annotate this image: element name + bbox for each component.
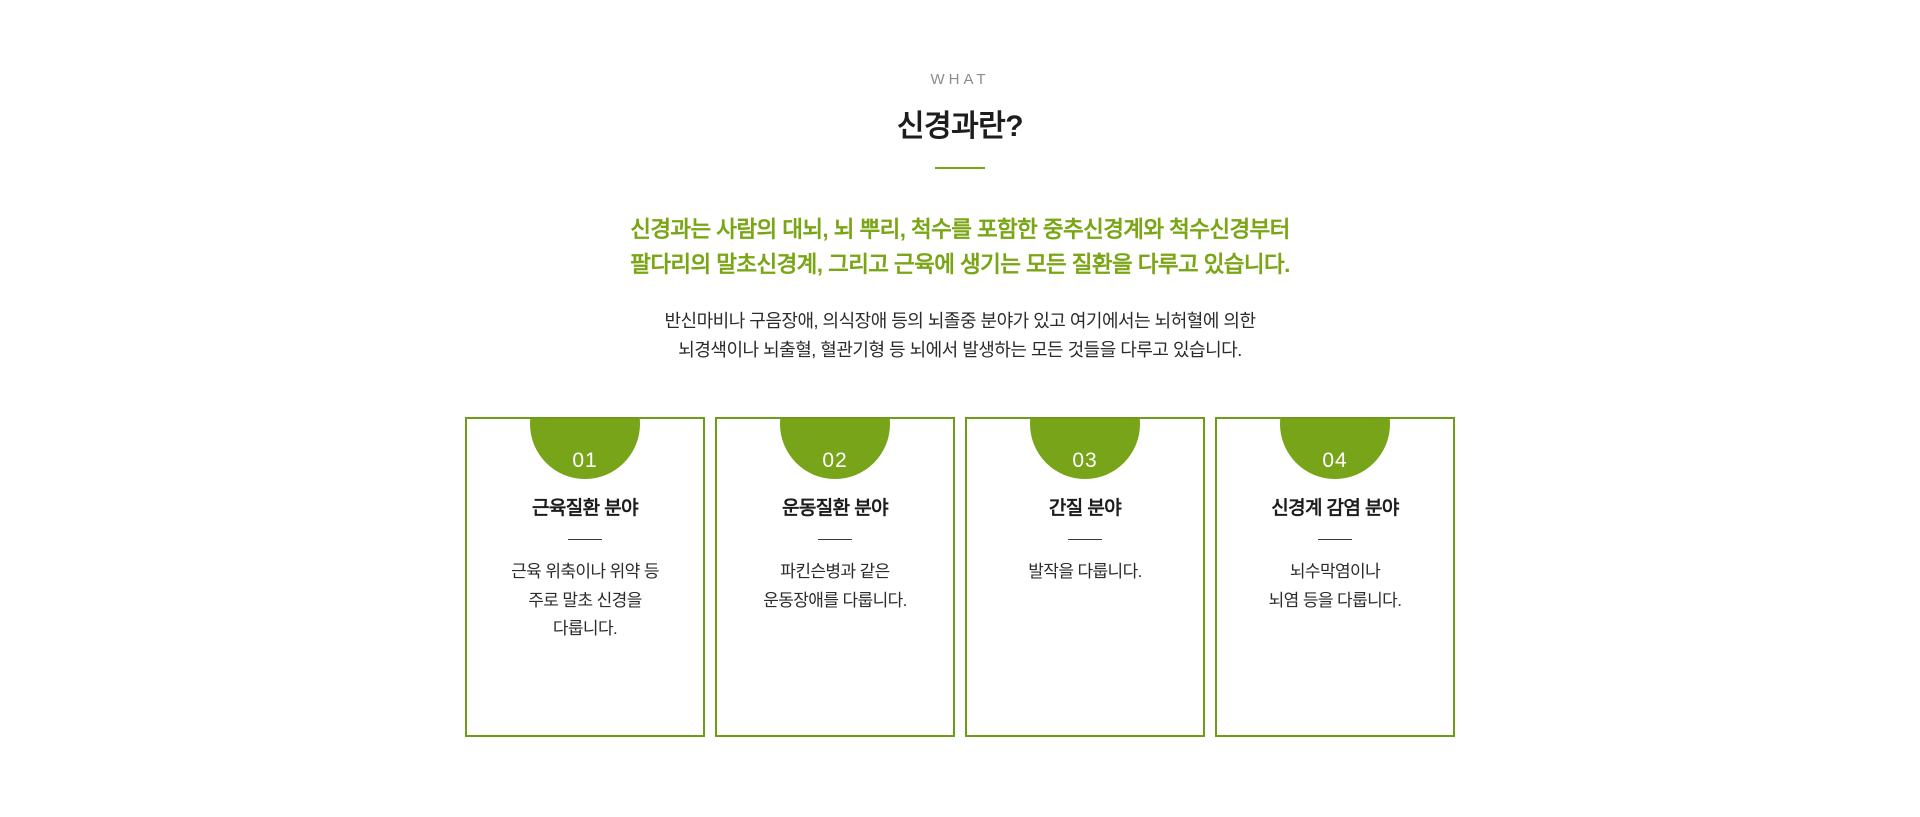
card-number: 01 <box>572 450 597 471</box>
card-body-line-1: 발작을 다룹니다. <box>981 558 1189 587</box>
lead-line-1: 신경과는 사람의 대뇌, 뇌 뿌리, 척수를 포함한 중추신경계와 척수신경부터 <box>0 213 1920 248</box>
card-title: 간질 분야 <box>967 497 1203 522</box>
page-root: WHAT 신경과란? 신경과는 사람의 대뇌, 뇌 뿌리, 척수를 포함한 중추… <box>0 0 1920 817</box>
card-number: 02 <box>822 450 847 471</box>
card-item-03[interactable]: 03 간질 분야 발작을 다룹니다. <box>965 417 1205 737</box>
card-divider <box>1318 539 1352 541</box>
card-title: 신경계 감염 분야 <box>1217 497 1453 522</box>
card-number-badge: 03 <box>1030 417 1140 479</box>
card-body-line-2: 운동장애를 다룹니다. <box>731 587 939 616</box>
sub-paragraph: 반신마비나 구음장애, 의식장애 등의 뇌졸중 분야가 있고 여기에서는 뇌허혈… <box>0 307 1920 365</box>
section-eyebrow: WHAT <box>0 72 1920 87</box>
card-body-line-2: 뇌염 등을 다룹니다. <box>1231 587 1439 616</box>
card-list: 01 근육질환 분야 근육 위축이나 위약 등 주로 말초 신경을 다룹니다. … <box>465 417 1455 737</box>
card-divider <box>818 539 852 541</box>
card-title: 근육질환 분야 <box>467 497 703 522</box>
sub-line-2: 뇌경색이나 뇌출혈, 혈관기형 등 뇌에서 발생하는 모든 것들을 다루고 있습… <box>0 336 1920 365</box>
card-number-badge: 02 <box>780 417 890 479</box>
card-body: 뇌수막염이나 뇌염 등을 다룹니다. <box>1217 558 1453 615</box>
lead-line-2: 팔다리의 말초신경계, 그리고 근육에 생기는 모든 질환을 다루고 있습니다. <box>0 248 1920 283</box>
sub-line-1: 반신마비나 구음장애, 의식장애 등의 뇌졸중 분야가 있고 여기에서는 뇌허혈… <box>0 307 1920 336</box>
card-number: 04 <box>1322 450 1347 471</box>
page-title: 신경과란? <box>0 109 1920 145</box>
card-item-04[interactable]: 04 신경계 감염 분야 뇌수막염이나 뇌염 등을 다룹니다. <box>1215 417 1455 737</box>
card-body: 발작을 다룹니다. <box>967 558 1203 587</box>
card-body-line-1: 파킨슨병과 같은 <box>731 558 939 587</box>
card-body-line-3: 다룹니다. <box>481 615 689 644</box>
card-number-badge: 01 <box>530 417 640 479</box>
card-body-line-1: 근육 위축이나 위약 등 <box>481 558 689 587</box>
card-number-badge: 04 <box>1280 417 1390 479</box>
card-item-01[interactable]: 01 근육질환 분야 근육 위축이나 위약 등 주로 말초 신경을 다룹니다. <box>465 417 705 737</box>
card-divider <box>568 539 602 541</box>
card-number: 03 <box>1072 450 1097 471</box>
card-body-line-2: 주로 말초 신경을 <box>481 587 689 616</box>
section-header: WHAT 신경과란? <box>0 0 1920 169</box>
card-divider <box>1068 539 1102 541</box>
header-divider <box>935 167 985 169</box>
card-title: 운동질환 분야 <box>717 497 953 522</box>
card-body: 근육 위축이나 위약 등 주로 말초 신경을 다룹니다. <box>467 558 703 644</box>
card-body-line-1: 뇌수막염이나 <box>1231 558 1439 587</box>
lead-paragraph: 신경과는 사람의 대뇌, 뇌 뿌리, 척수를 포함한 중추신경계와 척수신경부터… <box>0 213 1920 283</box>
card-item-02[interactable]: 02 운동질환 분야 파킨슨병과 같은 운동장애를 다룹니다. <box>715 417 955 737</box>
card-body: 파킨슨병과 같은 운동장애를 다룹니다. <box>717 558 953 615</box>
